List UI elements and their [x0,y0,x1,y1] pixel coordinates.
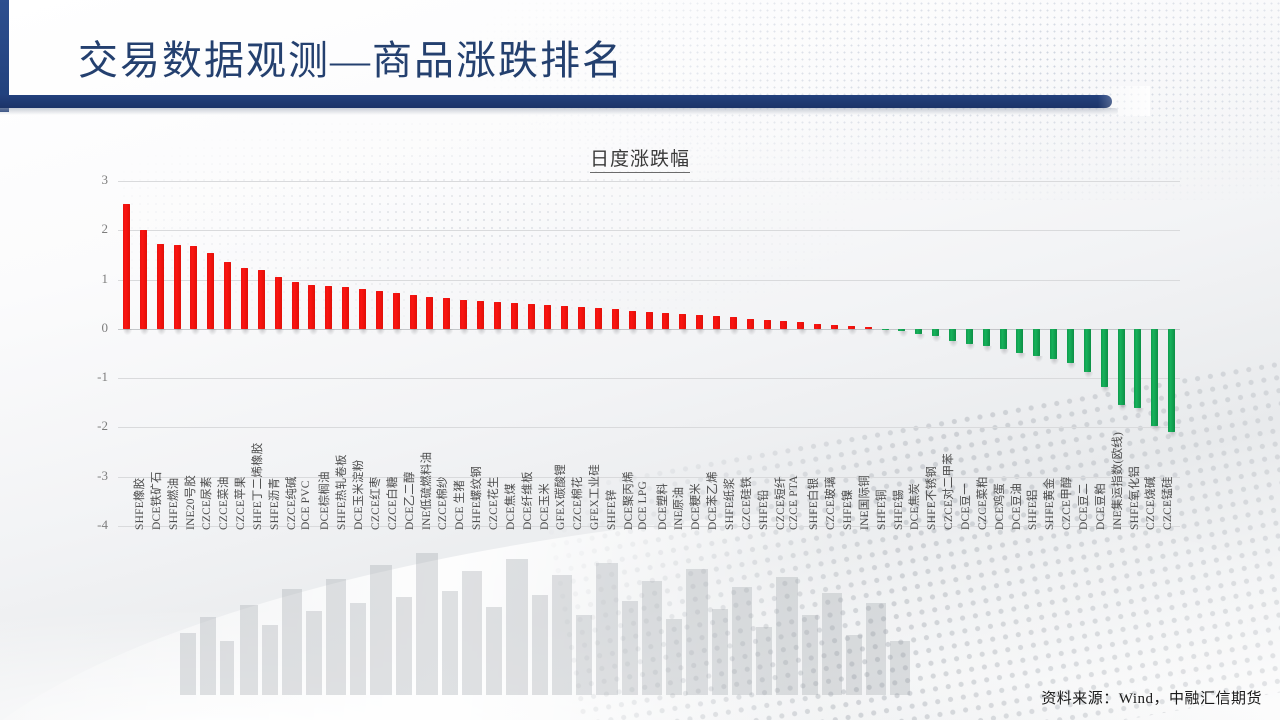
x-axis-tick-label: DCE豆一 [957,483,973,530]
x-axis-tick-label: DCE聚丙烯 [620,471,636,530]
x-axis-tick-label: SHFE不锈钢 [923,466,939,530]
x-axis-tick-label: SHFE黄金 [1041,478,1057,530]
x-axis-tick-label: SHFE铅 [755,489,771,530]
x-axis-tick-label: DCE苯乙烯 [704,471,720,530]
x-axis-tick-label: DCE豆油 [1008,483,1024,530]
x-axis-tick-label: INE低硫燃料油 [418,452,434,530]
y-axis-tick-label: 2 [48,221,108,237]
x-axis-tick-label: DCE乙二醇 [401,471,417,530]
y-axis-tick-label: 0 [48,320,108,336]
x-axis-tick-label: SHFE螺纹钢 [468,466,484,530]
x-axis-tick-label: DCE豆二 [1075,483,1091,530]
source-note: 资料来源：Wind，中融汇信期货 [1041,687,1262,708]
x-axis-tick-label: CZCE棉花 [569,476,585,530]
title-band: 交易数据观测—商品涨跌排名 [0,0,1110,95]
chart-x-axis-labels: SHFE橡胶DCE铁矿石SHFE燃油INE20号胶CZCE尿素CZCE菜油CZC… [118,181,1180,526]
x-axis-tick-label: DCE鸡蛋 [991,483,1007,530]
x-axis-tick-label: DCE纤维板 [519,471,535,530]
x-axis-tick-label: SHFE橡胶 [131,478,147,530]
x-axis-tick-label: DCE玉米 [536,483,552,530]
x-axis-tick-label: SHFE锌 [603,489,619,530]
x-axis-tick-label: DCE焦炭 [906,483,922,530]
chart-title-text: 日度涨跌幅 [590,149,690,173]
x-axis-tick-label: INE原油 [670,487,686,530]
x-axis-tick-label: DCE粳米 [687,483,703,530]
title-underline-shadow [0,108,1118,115]
x-axis-tick-label: CZCE PTA [788,475,800,530]
x-axis-tick-label: DCE玉米淀粉 [350,460,366,530]
x-axis-tick-label: CZCE苹果 [232,476,248,530]
x-axis-tick-label: DCE LPG [637,481,649,530]
chart-title: 日度涨跌幅 [0,144,1280,171]
x-axis-tick-label: CZCE对二甲苯 [940,453,956,530]
x-axis-tick-label: DCE 生猪 [451,480,467,530]
x-axis-tick-label: SHFE氧化铝 [1126,466,1142,530]
x-axis-tick-label: SHFE铜 [873,489,889,530]
x-axis-tick-label: DCE PVC [300,480,312,530]
x-axis-tick-label: CZCE烧碱 [1142,476,1158,530]
x-axis-tick-label: DCE铁矿石 [148,471,164,530]
title-underline-bar [0,95,1112,108]
x-axis-tick-label: SHFE白银 [805,478,821,530]
x-axis-tick-label: INE集运指数(欧线) [1109,432,1125,530]
y-axis-tick-label: 3 [48,172,108,188]
x-axis-tick-label: CZCE甲醇 [1058,476,1074,530]
x-axis-tick-label: CZCE尿素 [198,476,214,530]
x-axis-tick-label: SHFE铝 [1024,489,1040,530]
x-axis-tick-label: CZCE菜粕 [974,476,990,530]
page-title: 交易数据观测—商品涨跌排名 [78,28,624,86]
x-axis-tick-label: CZCE花生 [485,476,501,530]
x-axis-tick-label: SHFE锡 [890,489,906,530]
x-axis-tick-label: CZCE玻璃 [822,476,838,530]
x-axis-tick-label: DCE塑料 [654,483,670,530]
x-axis-tick-label: INE20号胶 [182,475,198,530]
x-axis-tick-label: GFEX碳酸锂 [552,464,568,530]
x-axis-tick-label: INE国际铜 [856,475,872,530]
x-axis-tick-label: DCE焦煤 [502,483,518,530]
x-axis-tick-label: SHFE镍 [839,489,855,530]
y-axis-tick-label: 1 [48,271,108,287]
title-band-fade [1020,86,1150,116]
x-axis-tick-label: CZCE白糖 [384,476,400,530]
y-axis-tick-label: -1 [48,369,108,385]
chart-container: 日度涨跌幅 3210-1-2-3-4 SHFE橡胶DCE铁矿石SHFE燃油INE… [0,118,1280,678]
y-axis-tick-label: -3 [48,468,108,484]
x-axis-tick-label: GFEX工业硅 [586,464,602,530]
x-axis-tick-label: CZCE纯碱 [283,476,299,530]
x-axis-tick-label: CZCE锰硅 [1159,476,1175,530]
x-axis-tick-label: CZCE短纤 [772,476,788,530]
chart-plot-area: 3210-1-2-3-4 SHFE橡胶DCE铁矿石SHFE燃油INE20号胶CZ… [118,181,1180,526]
x-axis-tick-label: SHFE沥青 [266,478,282,530]
y-axis-tick-label: -4 [48,517,108,533]
x-axis-tick-label: CZCE棉纱 [434,476,450,530]
x-axis-tick-label: CZCE硅铁 [738,476,754,530]
x-axis-tick-label: CZCE菜油 [215,476,231,530]
x-axis-tick-label: CZCE红枣 [367,476,383,530]
x-axis-tick-label: SHFE燃油 [165,478,181,530]
x-axis-tick-label: SHFE丁二烯橡胶 [249,443,265,530]
x-axis-tick-label: SHFE纸浆 [721,478,737,530]
x-axis-tick-label: DCE豆粕 [1092,483,1108,530]
x-axis-tick-label: DCE棕榈油 [316,471,332,530]
x-axis-tick-label: SHFE热轧卷板 [333,454,349,530]
y-axis-tick-label: -2 [48,418,108,434]
